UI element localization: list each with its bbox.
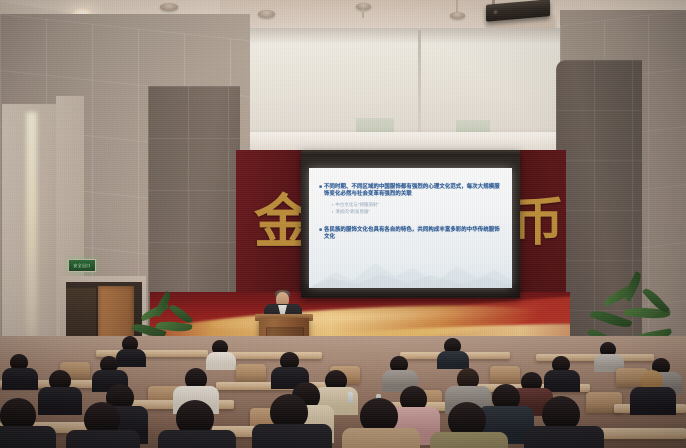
slide-bullet-group: ■ 各民族的服饰文化也具有各自的特色，共同构成丰富多彩的中华传统服饰文化 xyxy=(319,227,504,242)
projector-lens xyxy=(492,9,499,15)
ceiling-speaker xyxy=(258,10,275,18)
bullet-marker-icon: ■ xyxy=(319,227,322,234)
slide-bullet-group: ■ 不同时期、不同区域的中国服饰都有强烈的心理文化范式，每次大规模服饰变化必然与… xyxy=(319,184,504,215)
ceiling-speaker xyxy=(160,3,178,11)
sub-bullet-marker-icon: ▪ xyxy=(332,202,333,208)
ceiling-rod xyxy=(362,9,364,18)
slide-sub-bullet: ▪ 清初的"剃发易服" xyxy=(332,209,504,215)
water-bottle xyxy=(348,392,353,403)
ceiling-rod xyxy=(456,0,458,13)
desk-row xyxy=(226,352,322,359)
slide-bullet: ■ 各民族的服饰文化也具有各自的特色，共同构成丰富多彩的中华传统服饰文化 xyxy=(319,227,504,242)
sub-bullet-marker-icon: ▪ xyxy=(332,209,333,215)
bullet-marker-icon: ■ xyxy=(319,184,322,191)
slide-sub-bullet-text: 清初的"剃发易服" xyxy=(335,209,370,215)
lecture-hall-photo: 安全出口 金 币 ■ 不同时期、不同区域的中国服饰都有强烈的心理文化范式，每次大… xyxy=(0,0,686,448)
exit-sign-label: 安全出口 xyxy=(73,264,90,268)
slide-bullet-text: 各民族的服饰文化也具有各自的特色，共同构成丰富多彩的中华传统服饰文化 xyxy=(324,227,504,242)
ceiling-speaker xyxy=(450,12,465,19)
emergency-exit-sign: 安全出口 xyxy=(68,259,96,272)
slide-sub-bullet: ▪ 中古文化与"胡服骑射" xyxy=(332,202,504,208)
slide-bullet-text: 不同时期、不同区域的中国服饰都有强烈的心理文化范式，每次大规模服饰变化必然与社会… xyxy=(324,184,504,199)
projection-screen-rail xyxy=(301,150,520,156)
slide-bullet: ■ 不同时期、不同区域的中国服饰都有强烈的心理文化范式，每次大规模服饰变化必然与… xyxy=(319,184,504,199)
slide-content: ■ 不同时期、不同区域的中国服饰都有强烈的心理文化范式，每次大规模服饰变化必然与… xyxy=(319,184,504,245)
chair xyxy=(236,364,266,382)
slide-sub-bullet-text: 中古文化与"胡服骑射" xyxy=(335,202,379,208)
audience-seating-area: Fashion xyxy=(0,336,686,448)
bulkhead-seam xyxy=(418,30,421,142)
projection-screen: ■ 不同时期、不同区域的中国服饰都有强烈的心理文化范式，每次大规模服饰变化必然与… xyxy=(309,168,512,288)
alcove-light-strip xyxy=(26,112,37,370)
slide-mountain-watermark xyxy=(309,254,512,288)
chair xyxy=(490,366,520,384)
